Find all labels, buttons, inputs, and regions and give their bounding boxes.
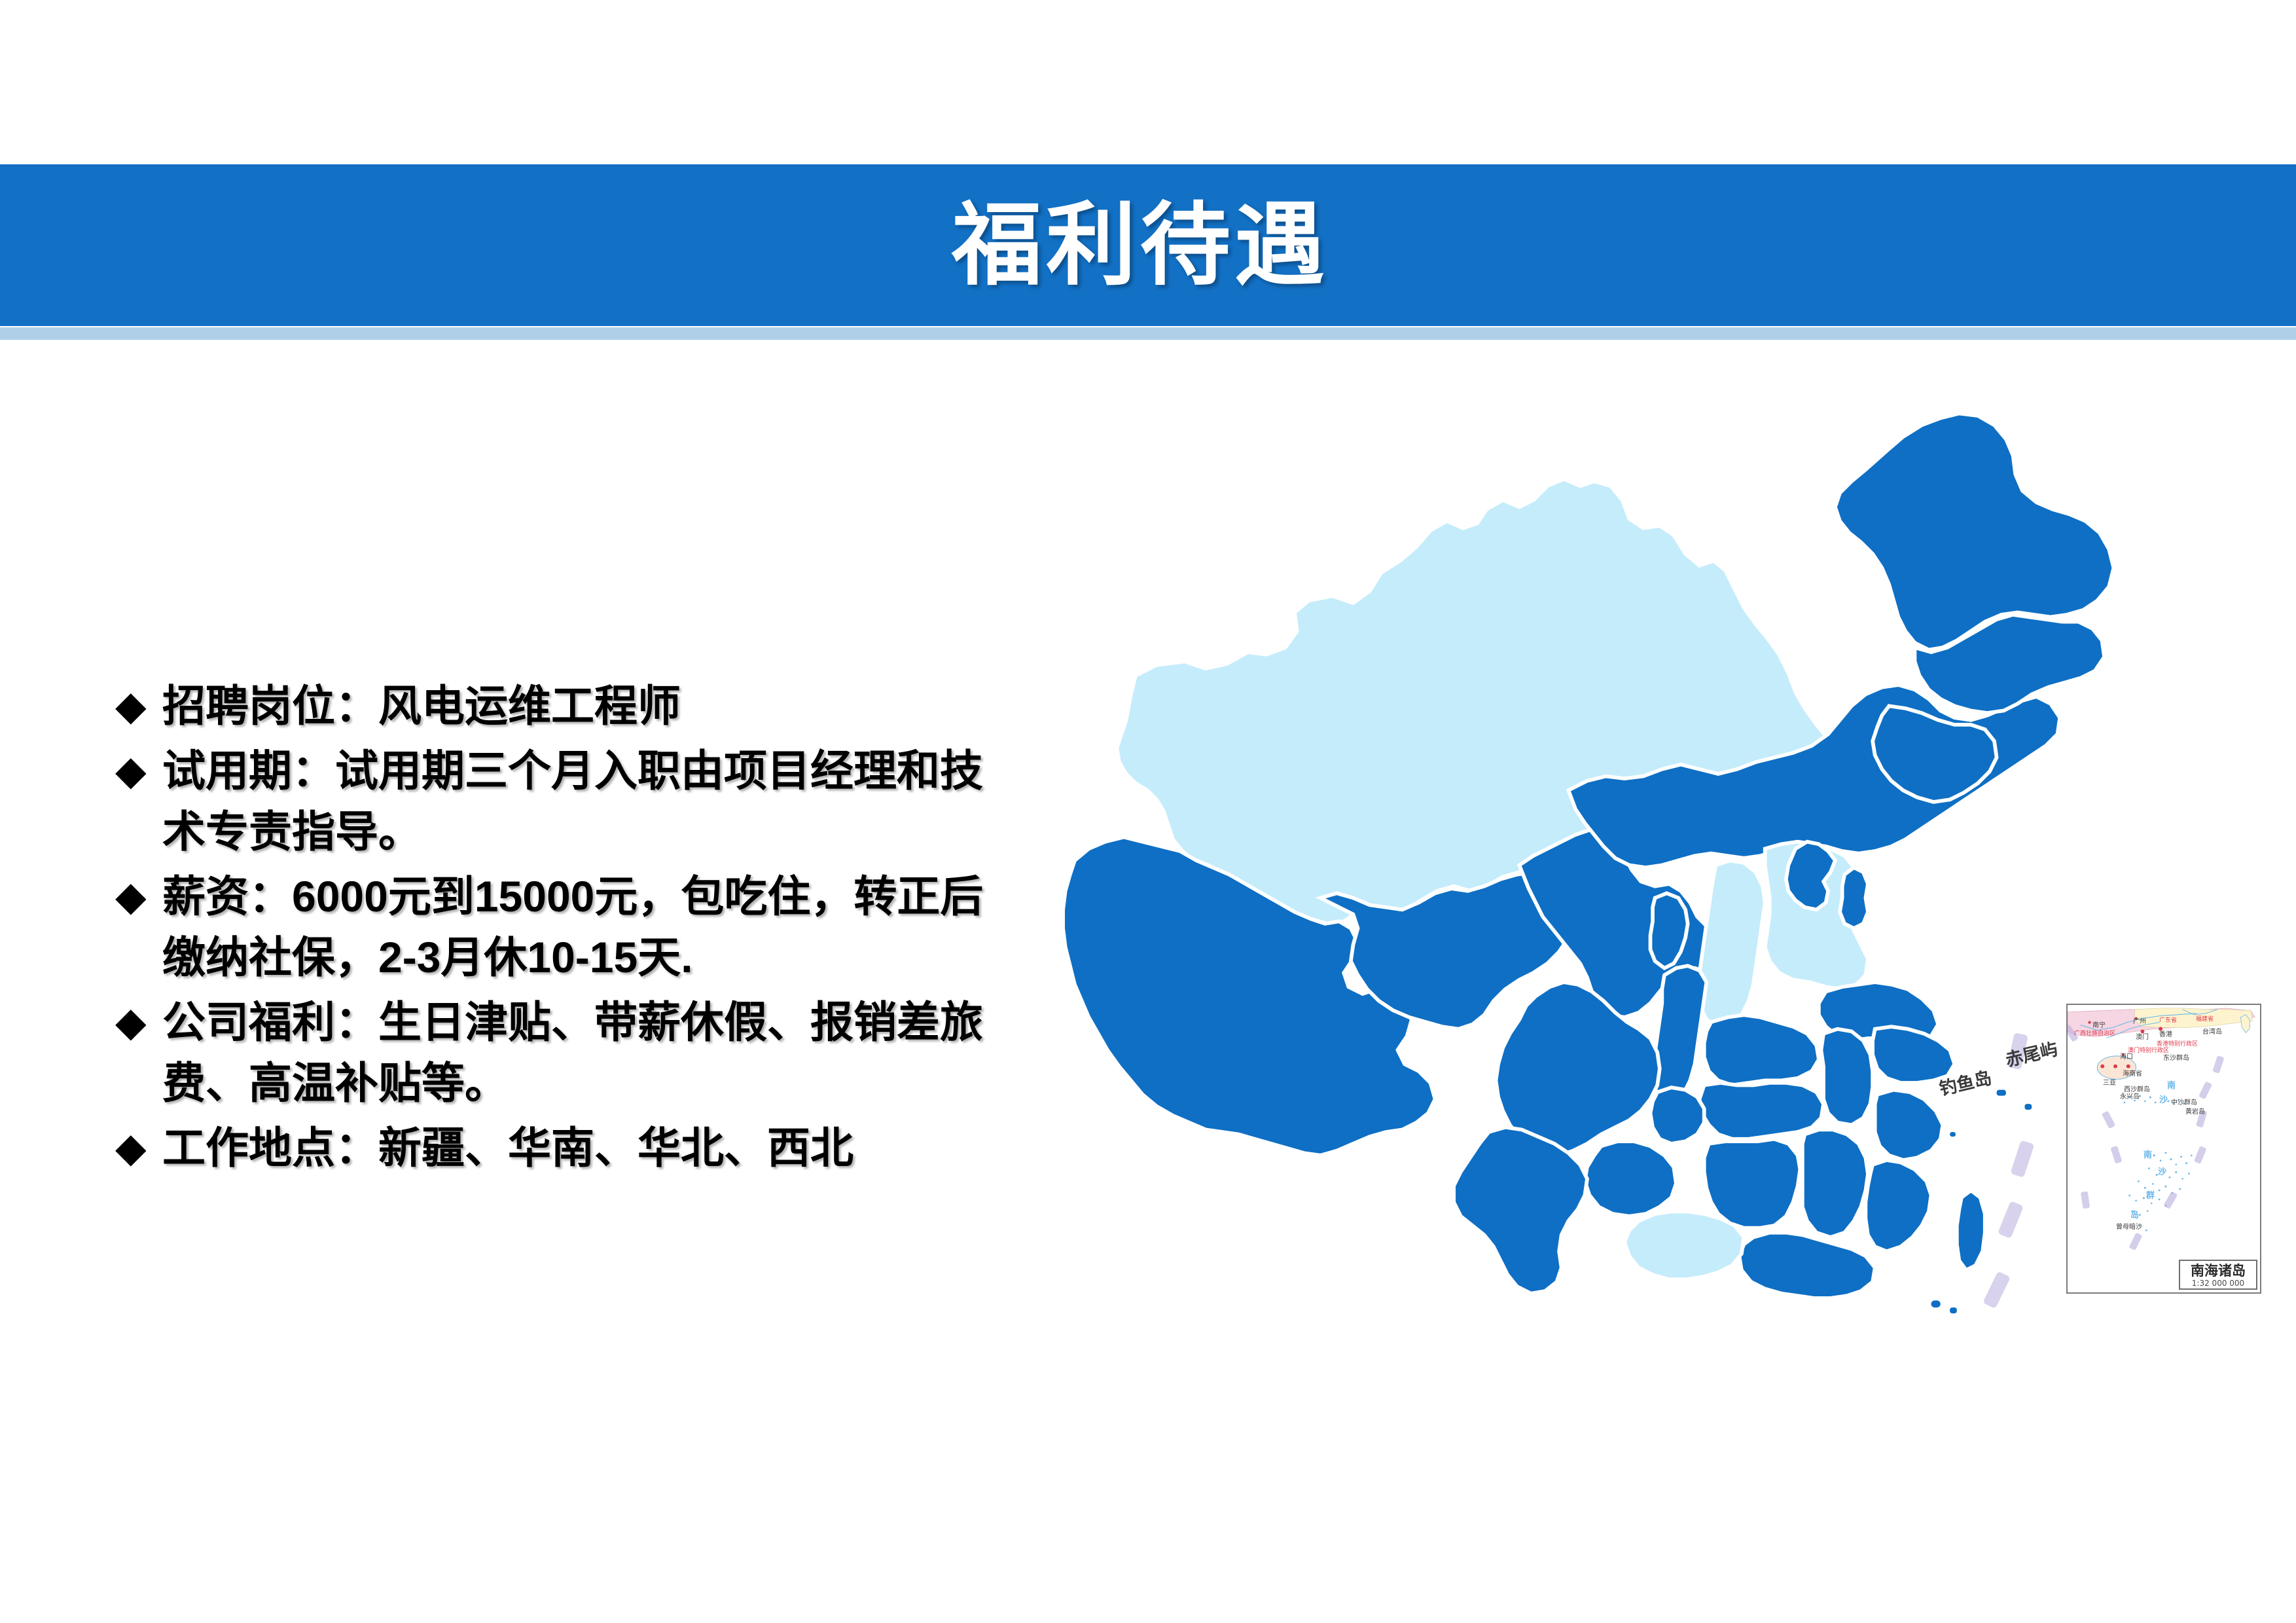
list-item-label: 试用期：试用期三个月入职由项目经理和技术专责指导。 — [162, 740, 1018, 862]
diamond-bullet-icon: ◆ — [115, 992, 162, 1053]
list-item: ◆ 公司福利：生日津贴、带薪休假、报销差旅费、高温补贴等。 — [115, 992, 1018, 1114]
municipality-tianjin — [1840, 867, 1868, 928]
inset-label-taiwan-island: 台湾岛 — [2202, 1026, 2222, 1036]
list-item-label: 招聘岗位：风电运维工程师 — [162, 676, 1018, 737]
island-dot — [1931, 1300, 1941, 1307]
inset-label-sha-2: 沙 — [2158, 1165, 2166, 1177]
island-dot — [2025, 1104, 2032, 1110]
list-item: ◆ 薪资：6000元到15000元，包吃住，转正后缴纳社保，2-3月休10-15… — [115, 866, 1018, 988]
page-title: 福利待遇 — [952, 200, 1329, 291]
province-zhejiang — [1875, 1090, 1943, 1160]
municipality-chongqing — [1651, 1087, 1704, 1144]
province-guangxi — [1624, 1212, 1744, 1280]
inset-label-nan-2: 南 — [2144, 1148, 2152, 1160]
province-henan — [1704, 1015, 1819, 1085]
china-map-svg — [1018, 383, 2189, 1319]
header-accent-underbar — [0, 327, 2296, 340]
list-item-label: 薪资：6000元到15000元，包吃住，转正后缴纳社保，2-3月休10-15天. — [162, 866, 1018, 988]
inset-label-nan: 南 — [2167, 1078, 2176, 1091]
inset-title: 南海诸岛 — [2180, 1263, 2256, 1279]
inset-label-hongkong: 香港 — [2159, 1029, 2172, 1038]
inset-label-guangxi: 广西壮族自治区 — [2074, 1029, 2115, 1037]
inset-label-zengmu-ansha: 曾母暗沙 — [2116, 1221, 2142, 1231]
diamond-bullet-icon: ◆ — [115, 740, 162, 801]
inset-scale-label: 1:32 000 000 — [2180, 1279, 2256, 1288]
province-yunnan — [1454, 1127, 1587, 1294]
inset-label-macau: 澳门 — [2136, 1031, 2149, 1041]
province-hunan — [1704, 1139, 1801, 1228]
island-dot — [1997, 1090, 2006, 1096]
island-dot — [1950, 1132, 1956, 1137]
inset-label-yongxing: 永兴岛 — [2120, 1091, 2140, 1101]
inset-label-dongsha: 东沙群岛 — [2163, 1052, 2189, 1062]
inset-label-sanya: 三亚 — [2103, 1077, 2116, 1087]
province-anhui — [1821, 1029, 1873, 1125]
inset-label-dao: 岛 — [2130, 1208, 2139, 1220]
inset-label-qun: 群 — [2146, 1188, 2155, 1201]
province-heilongjiang — [1835, 413, 2113, 649]
province-guizhou — [1585, 1141, 1676, 1216]
list-item: ◆ 工作地点：新疆、华南、华北、西北 — [115, 1118, 1018, 1178]
inset-title-box: 南海诸岛 1:32 000 000 — [2179, 1260, 2257, 1290]
inset-label-guangdong: 广东省 — [2159, 1015, 2177, 1024]
province-taiwan — [1957, 1190, 1985, 1270]
province-guangdong — [1739, 1233, 1874, 1298]
benefits-list: ◆ 招聘岗位：风电运维工程师 ◆ 试用期：试用期三个月入职由项目经理和技术专责指… — [115, 676, 1018, 1182]
south-china-sea-inset: 南宁 广西壮族自治区 广州 广东省 福建省 香港 澳门 香港特别行政区 澳门特别… — [2066, 1004, 2261, 1294]
municipality-beijing — [1786, 842, 1835, 910]
list-item: ◆ 试用期：试用期三个月入职由项目经理和技术专责指导。 — [115, 740, 1018, 862]
inset-label-haikou: 海口 — [2120, 1051, 2133, 1061]
province-fujian — [1865, 1160, 1931, 1251]
header-banner: 福利待遇 — [0, 164, 2296, 326]
province-jiangxi — [1803, 1129, 1868, 1237]
inset-label-sha: 沙 — [2159, 1093, 2168, 1105]
list-item-label: 公司福利：生日津贴、带薪休假、报销差旅费、高温补贴等。 — [162, 992, 1018, 1114]
china-map — [1018, 383, 2189, 1319]
diamond-bullet-icon: ◆ — [115, 1118, 162, 1178]
inset-label-guangzhou: 广州 — [2133, 1015, 2146, 1025]
inset-label-fujian: 福建省 — [2196, 1014, 2214, 1023]
diamond-bullet-icon: ◆ — [115, 866, 162, 927]
province-shaanxi — [1653, 966, 1706, 1101]
province-hubei — [1700, 1083, 1823, 1139]
inset-label-zhongsha: 中沙群岛 — [2171, 1097, 2197, 1106]
province-shanxi — [1697, 860, 1765, 1027]
island-dot — [1950, 1307, 1957, 1313]
inset-label-nanning: 南宁 — [2092, 1019, 2106, 1029]
inset-label-huangyan: 黄岩岛 — [2185, 1106, 2205, 1116]
diamond-bullet-icon: ◆ — [115, 676, 162, 737]
list-item: ◆ 招聘岗位：风电运维工程师 — [115, 676, 1018, 737]
list-item-label: 工作地点：新疆、华南、华北、西北 — [162, 1118, 1018, 1178]
inset-label-hainan-province: 海南省 — [2123, 1068, 2142, 1078]
